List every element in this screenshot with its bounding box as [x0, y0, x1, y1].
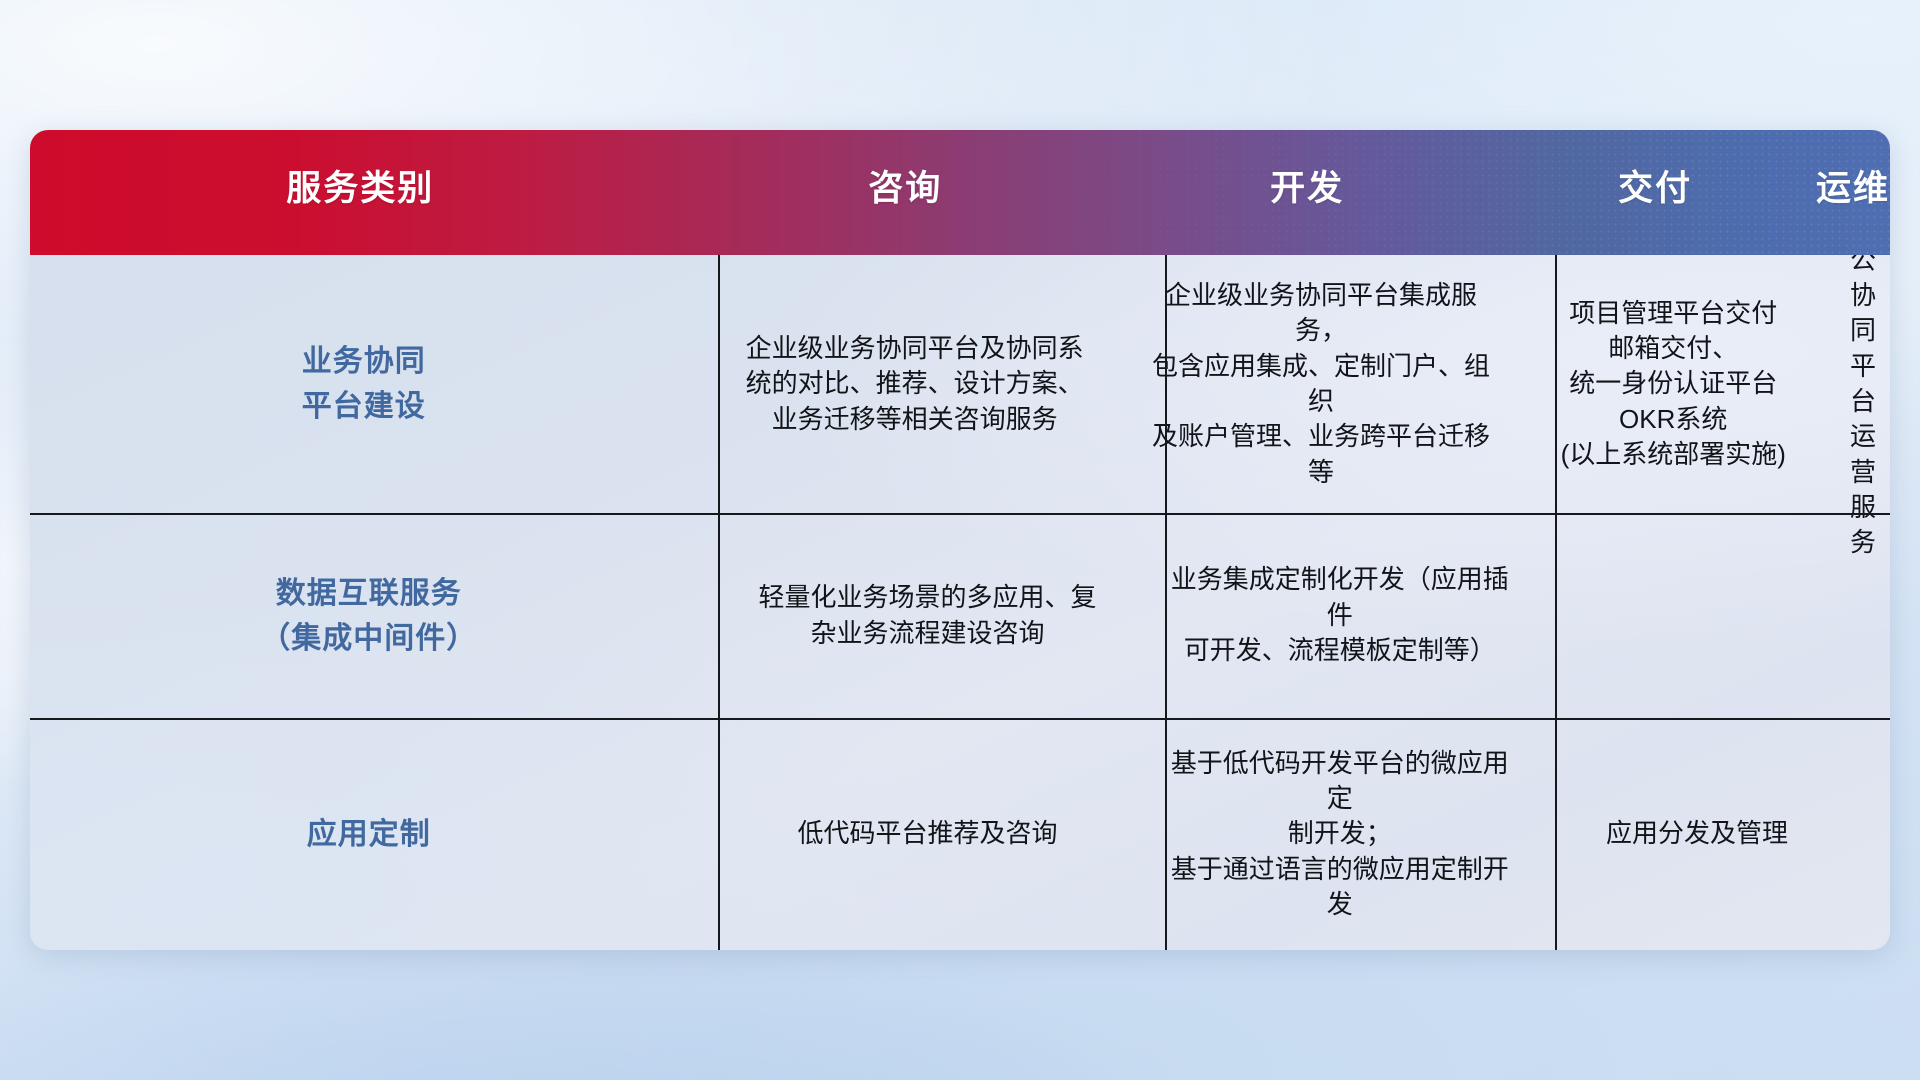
table-header-row: 服务类别 咨询 开发 交付 运维 — [30, 130, 1890, 255]
cell-delivery — [1532, 513, 1862, 718]
table-row: 应用定制 低代码平台推荐及咨询 基于低代码开发平台的微应用定 制开发； 基于通过… — [30, 718, 1890, 950]
cell-operations: 办公协同平台运营服务 — [1836, 255, 1890, 513]
row-category-label: 应用定制 — [30, 718, 707, 950]
column-header-operations: 运维 — [1816, 160, 1890, 255]
service-matrix-table: 服务类别 咨询 开发 交付 运维 业务协同 平台建设 企业级业务协同平台及协同系… — [30, 130, 1890, 950]
column-divider-1 — [718, 255, 720, 950]
column-header-delivery: 交付 — [1494, 160, 1816, 255]
table-row: 数据互联服务 （集成中间件） 轻量化业务场景的多应用、复 杂业务流程建设咨询 业… — [30, 513, 1890, 718]
column-divider-2 — [1165, 255, 1167, 950]
row-category-label: 数据互联服务 （集成中间件） — [30, 513, 707, 718]
cell-operations — [1862, 718, 1890, 950]
table-body: 业务协同 平台建设 企业级业务协同平台及协同系 统的对比、推荐、设计方案、 业务… — [30, 255, 1890, 950]
cell-development: 基于低代码开发平台的微应用定 制开发； 基于通过语言的微应用定制开发 — [1148, 718, 1532, 950]
cell-development: 业务集成定制化开发（应用插件 可开发、流程模板定制等） — [1148, 513, 1532, 718]
cell-consulting: 企业级业务协同平台及协同系 统的对比、推荐、设计方案、 业务迁移等相关咨询服务 — [698, 255, 1132, 513]
table-row: 业务协同 平台建设 企业级业务协同平台及协同系 统的对比、推荐、设计方案、 业务… — [30, 255, 1890, 513]
column-header-consulting: 咨询 — [691, 160, 1120, 255]
cell-delivery: 应用分发及管理 — [1532, 718, 1862, 950]
row-category-label: 业务协同 平台建设 — [30, 255, 698, 513]
cell-delivery: 项目管理平台交付 邮箱交付、 统一身份认证平台 OKR系统 (以上系统部署实施) — [1510, 255, 1836, 513]
cell-consulting: 低代码平台推荐及咨询 — [707, 718, 1147, 950]
column-header-development: 开发 — [1120, 160, 1494, 255]
cell-development: 企业级业务协同平台集成服务， 包含应用集成、定制门户、组织 及账户管理、业务跨平… — [1132, 255, 1511, 513]
column-header-service-category: 服务类别 — [30, 160, 691, 255]
column-divider-3 — [1555, 255, 1557, 950]
row-divider-2 — [30, 718, 1890, 720]
cell-operations — [1862, 513, 1890, 718]
cell-consulting: 轻量化业务场景的多应用、复 杂业务流程建设咨询 — [707, 513, 1147, 718]
row-divider-1 — [30, 513, 1890, 515]
